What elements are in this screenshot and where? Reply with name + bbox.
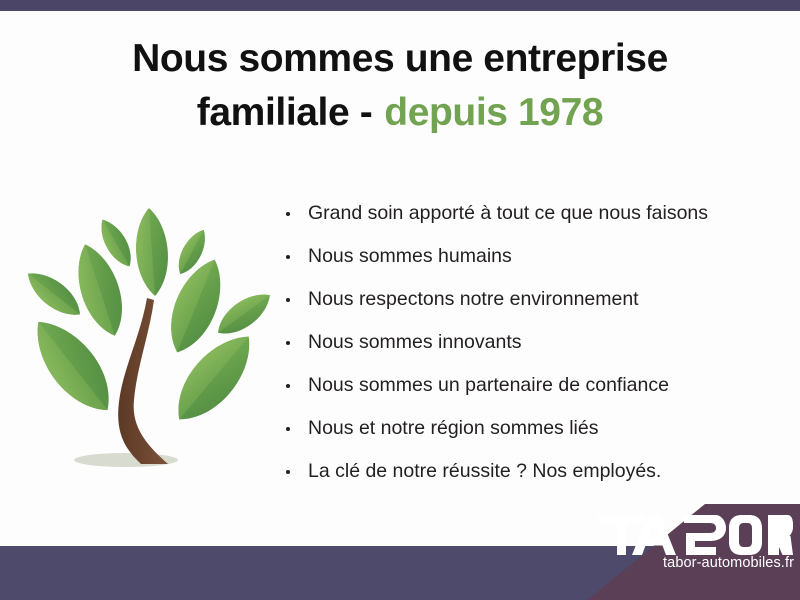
brand-logo: tabor-automobiles.fr <box>550 502 800 600</box>
bullet-icon <box>286 384 290 388</box>
list-item: Nous sommes innovants <box>285 321 755 364</box>
bullet-icon <box>286 212 290 216</box>
tree-illustration <box>18 188 280 488</box>
list-item: Nous et notre région sommes liés <box>285 407 755 450</box>
logo-website-url: tabor-automobiles.fr <box>550 555 794 571</box>
page-title-line-2-plain: familiale - <box>197 91 373 134</box>
bullet-icon <box>286 255 290 259</box>
list-item-label: Nous sommes un partenaire de confiance <box>308 374 669 396</box>
page-title: Nous sommes une entreprise familiale -de… <box>0 32 800 140</box>
list-item: Nous respectons notre environnement <box>285 278 755 321</box>
list-item-label: La clé de notre réussite ? Nos employés. <box>308 460 661 482</box>
list-item: Nous sommes humains <box>285 235 755 278</box>
slide-canvas: Nous sommes une entreprise familiale -de… <box>0 0 800 600</box>
tree-trunk <box>118 298 168 464</box>
bullet-icon <box>286 427 290 431</box>
list-item-label: Nous respectons notre environnement <box>308 288 639 310</box>
list-item-label: Nous et notre région sommes liés <box>308 417 598 439</box>
bullet-icon <box>286 298 290 302</box>
bullet-icon <box>286 470 290 474</box>
page-title-line-2: familiale -depuis 1978 <box>0 86 800 140</box>
list-item: Nous sommes un partenaire de confiance <box>285 364 755 407</box>
value-list: Grand soin apporté à tout ce que nous fa… <box>285 192 755 493</box>
bullet-icon <box>286 341 290 345</box>
list-item-label: Grand soin apporté à tout ce que nous fa… <box>308 202 708 224</box>
list-item-label: Nous sommes innovants <box>308 331 522 353</box>
list-item-label: Nous sommes humains <box>308 245 512 267</box>
list-item: La clé de notre réussite ? Nos employés. <box>285 450 755 493</box>
top-accent-bar <box>0 0 800 11</box>
tabor-wordmark <box>598 515 793 555</box>
page-title-line-1: Nous sommes une entreprise <box>0 32 800 86</box>
page-title-since-year: depuis 1978 <box>384 91 603 134</box>
list-item: Grand soin apporté à tout ce que nous fa… <box>285 192 755 235</box>
